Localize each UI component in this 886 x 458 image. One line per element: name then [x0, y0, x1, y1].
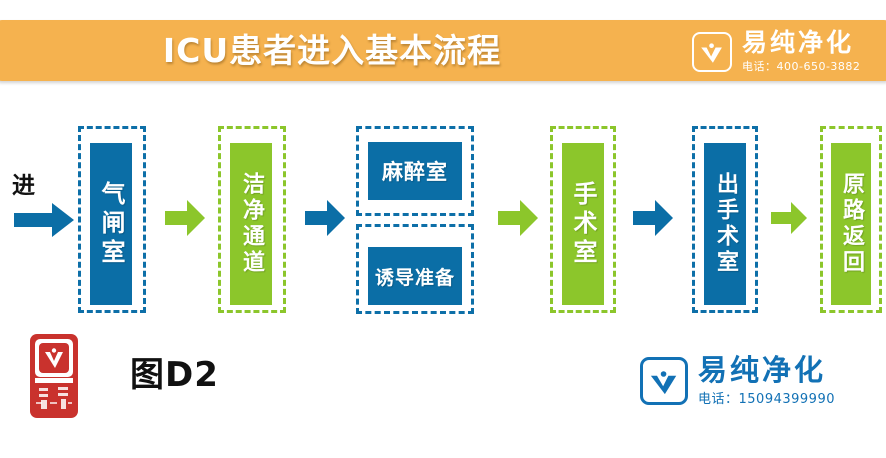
- arrow-2: [305, 200, 345, 236]
- step-box-airlock[interactable]: 气闸室: [90, 143, 132, 305]
- step-label-exit-or: 出手术室: [714, 172, 736, 276]
- step-label-operating-room: 手术室: [571, 181, 595, 268]
- arrow-5: [771, 202, 807, 234]
- step-label-induction-prep: 诱导准备: [375, 263, 455, 290]
- step-box-operating-room[interactable]: 手术室: [562, 143, 604, 305]
- step-label-clean-corridor: 洁净通道: [240, 172, 262, 276]
- yichun-w-logo-icon: [640, 357, 688, 405]
- step-box-exit-or[interactable]: 出手术室: [704, 143, 746, 305]
- step-label-return-path: 原路返回: [840, 172, 862, 276]
- red-seal-stamp-icon: [28, 332, 80, 420]
- brand-name: 易纯净化: [698, 355, 835, 385]
- arrow-4: [633, 200, 673, 236]
- step-label-anesthesia: 麻醉室: [382, 156, 448, 186]
- arrow-entry: [14, 203, 74, 237]
- brand-phone: 电话：15094399990: [698, 388, 835, 407]
- step-box-induction-prep[interactable]: 诱导准备: [368, 247, 462, 305]
- arrow-1: [165, 200, 205, 236]
- step-box-clean-corridor[interactable]: 洁净通道: [230, 143, 272, 305]
- arrow-3: [498, 200, 538, 236]
- figure-caption: 图D2: [130, 358, 219, 392]
- footer-logo-text: 易纯净化 电话：15094399990: [698, 355, 835, 406]
- step-box-anesthesia[interactable]: 麻醉室: [368, 142, 462, 200]
- footer-logo: 易纯净化 电话：15094399990: [640, 350, 880, 412]
- step-box-return-path[interactable]: 原路返回: [831, 143, 871, 305]
- entry-label: 进: [12, 175, 35, 198]
- step-label-airlock: 气闸室: [99, 181, 123, 268]
